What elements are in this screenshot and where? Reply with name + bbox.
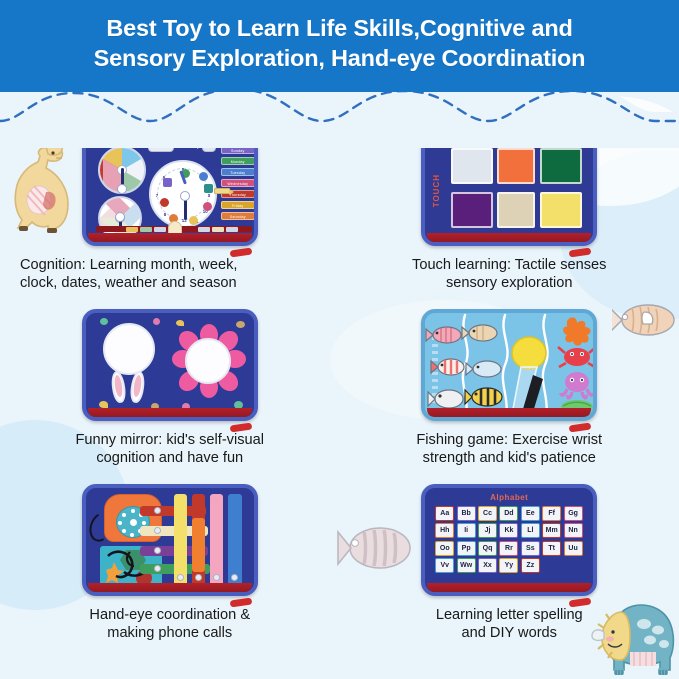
letter-tile[interactable]: Uu: [564, 541, 583, 556]
clock-shape-pink: [203, 202, 212, 211]
fish-white: [428, 390, 463, 408]
fish-pink: [426, 327, 461, 343]
board-touch-body: TOUCH: [421, 134, 597, 246]
caption-line-1: Touch learning: Tactile senses: [356, 256, 664, 274]
header-banner: Best Toy to Learn Life Skills,Cognitive …: [0, 0, 679, 92]
page-title-line2: Sensory Exploration, Hand-eye Coordinati…: [12, 43, 667, 73]
alphabet-tile-row: Vv Ww Xx Yy Zz: [435, 558, 591, 573]
deco-moon-2: [99, 401, 108, 408]
strap-grommet[interactable]: [154, 565, 161, 572]
feature-card-cognition[interactable]: 9 12 7 3 1 10 8 5 11 2: [0, 128, 340, 303]
letter-tile[interactable]: Ll: [521, 523, 540, 538]
caption-line-1: Hand-eye coordination &: [16, 606, 324, 624]
strap-grommet[interactable]: [177, 574, 184, 581]
page-title-line1: Best Toy to Learn Life Skills,Cognitive …: [12, 13, 667, 43]
letter-tile[interactable]: Rr: [499, 541, 518, 556]
letter-tile[interactable]: Kk: [499, 523, 518, 538]
month-button[interactable]: [140, 227, 152, 232]
coral-orange: [563, 317, 590, 345]
letter-tile[interactable]: Vv: [435, 558, 454, 573]
caption-line-2: strength and kid's patience: [356, 449, 664, 467]
caption-line-1: Cognition: Learning month, week,: [20, 256, 340, 274]
strap-grommet[interactable]: [154, 507, 161, 514]
letter-tile[interactable]: Bb: [457, 506, 476, 521]
feature-card-fishing[interactable]: Fishing game: Exercise wrist strength an…: [340, 303, 679, 478]
weekday-item-5[interactable]: Friday: [221, 201, 255, 209]
letter-tile[interactable]: Oo: [435, 541, 454, 556]
clock-shape-star: [199, 172, 208, 181]
board-cognition-body: 9 12 7 3 1 10 8 5 11 2: [82, 134, 258, 246]
clock-number: 8: [164, 212, 166, 217]
board-base-edge: [427, 408, 591, 419]
clock-number: 3: [208, 193, 210, 198]
letter-tile[interactable]: Cc: [478, 506, 497, 521]
touch-side-label: TOUCH: [432, 174, 441, 207]
letter-tile[interactable]: Xx: [478, 558, 497, 573]
octopus-purple: [561, 372, 593, 398]
caption-line-1: Learning letter spelling: [356, 606, 664, 624]
feature-card-touch[interactable]: TOUCH Touch learning: Tactile: [340, 128, 679, 303]
weekday-item-2[interactable]: Tuesday: [221, 168, 255, 176]
letter-tile[interactable]: Yy: [499, 558, 518, 573]
flower-mirror-glass[interactable]: [185, 338, 231, 384]
phone-dial-hole[interactable]: [130, 533, 134, 537]
letter-tile[interactable]: Hh: [435, 523, 454, 538]
month-button[interactable]: [126, 227, 138, 232]
letter-tile[interactable]: Dd: [499, 506, 518, 521]
letter-tile[interactable]: Ss: [521, 541, 540, 556]
strap-vertical-orange[interactable]: [192, 518, 205, 572]
feature-card-alphabet[interactable]: Alphabet Aa Bb Cc Dd Ee Ff Gg: [340, 478, 679, 653]
letter-tile[interactable]: Gg: [564, 506, 583, 521]
clock-shape-purple: [163, 178, 172, 187]
strap-grommet[interactable]: [213, 574, 220, 581]
letter-tile[interactable]: Ff: [542, 506, 561, 521]
promo-page: Best Toy to Learn Life Skills,Cognitive …: [0, 0, 679, 679]
board-base-edge: [88, 408, 252, 419]
weekday-item-1[interactable]: Monday: [221, 157, 255, 165]
board-base-edge: [88, 233, 252, 244]
strap-grommet[interactable]: [231, 574, 238, 581]
letter-tile[interactable]: Tt: [542, 541, 561, 556]
clock-face[interactable]: 9 12 7 3 1 10 8 5 11 2: [149, 160, 217, 228]
swatch-bubble-white[interactable]: [451, 148, 493, 184]
letter-tile[interactable]: Ee: [521, 506, 540, 521]
letter-tile[interactable]: Jj: [478, 523, 497, 538]
month-button[interactable]: [226, 227, 238, 232]
caption-alphabet: Learning letter spelling and DIY words: [340, 606, 679, 642]
feature-row-3: Hand-eye coordination & making phone cal…: [0, 478, 679, 653]
phone-dial-hole[interactable]: [142, 521, 146, 525]
month-button[interactable]: [212, 227, 224, 232]
strap-grommet[interactable]: [195, 574, 202, 581]
caption-mirror: Funny mirror: kid's self-visual cognitio…: [0, 431, 340, 467]
letter-tile[interactable]: Ww: [457, 558, 476, 573]
board-base-edge: [427, 233, 591, 244]
letter-tile[interactable]: Zz: [521, 558, 540, 573]
strap-grommet[interactable]: [154, 547, 161, 554]
feature-grid: 9 12 7 3 1 10 8 5 11 2: [0, 128, 679, 653]
fish-tan: [462, 325, 497, 341]
month-button[interactable]: [154, 227, 166, 232]
pencil-marker-side[interactable]: [214, 188, 230, 194]
caption-fishing: Fishing game: Exercise wrist strength an…: [340, 431, 679, 467]
caption-cognition: Cognition: Learning month, week, clock, …: [0, 256, 340, 292]
crab-red: [558, 347, 596, 367]
letter-tile[interactable]: Qq: [478, 541, 497, 556]
board-cognition[interactable]: 9 12 7 3 1 10 8 5 11 2: [82, 134, 258, 252]
phone-dial-hole[interactable]: [122, 513, 126, 517]
caption-line-2: and DIY words: [356, 624, 664, 642]
board-phone[interactable]: [82, 484, 258, 602]
alphabet-tile-row: Aa Bb Cc Dd Ee Ff Gg: [435, 506, 591, 521]
board-alphabet[interactable]: Alphabet Aa Bb Cc Dd Ee Ff Gg: [421, 484, 597, 602]
swatch-yellow-soft[interactable]: [540, 192, 582, 228]
alphabet-tile-row: Oo Pp Qq Rr Ss Tt Uu: [435, 541, 591, 556]
clock-number: 7: [156, 193, 158, 198]
clock-shape-red: [160, 198, 169, 207]
phone-dial-hole[interactable]: [118, 521, 122, 525]
deco-gem-green: [100, 318, 108, 325]
caption-line-1: Funny mirror: kid's self-visual: [16, 431, 324, 449]
feature-row-1: 9 12 7 3 1 10 8 5 11 2: [0, 128, 679, 303]
swatch-purple-beads[interactable]: [451, 192, 493, 228]
page-title: Best Toy to Learn Life Skills,Cognitive …: [0, 0, 679, 73]
caption-touch: Touch learning: Tactile senses sensory e…: [340, 256, 679, 292]
deco-flower-small: [153, 318, 160, 325]
letter-tile[interactable]: Mm: [542, 523, 561, 538]
flower-mirror[interactable]: [174, 327, 242, 395]
board-phone-body: [82, 484, 258, 596]
alphabet-tile-row: Hh Ii Jj Kk Ll Mm Nn: [435, 523, 591, 538]
board-fishing[interactable]: [421, 309, 597, 427]
swatch-orange-smooth[interactable]: [497, 148, 535, 184]
letter-tile[interactable]: Aa: [435, 506, 454, 521]
strap-grommet[interactable]: [154, 527, 161, 534]
fish-bee-yellow: [465, 388, 502, 406]
swatch-beige-sand[interactable]: [497, 192, 535, 228]
feature-row-2: Funny mirror: kid's self-visual cognitio…: [0, 303, 679, 478]
letter-tile[interactable]: Ii: [457, 523, 476, 538]
weather-dial-knob[interactable]: [117, 184, 127, 194]
board-alphabet-body: Alphabet Aa Bb Cc Dd Ee Ff Gg: [421, 484, 597, 596]
board-mirror-body: [82, 309, 258, 421]
season-dial-knob[interactable]: [115, 212, 125, 222]
caption-line-2: cognition and have fun: [16, 449, 324, 467]
board-base-edge: [88, 583, 252, 594]
feature-card-mirror[interactable]: Funny mirror: kid's self-visual cognitio…: [0, 303, 340, 478]
alphabet-tile-grid[interactable]: Aa Bb Cc Dd Ee Ff Gg Hh: [435, 506, 591, 576]
phone-dial-hole[interactable]: [131, 509, 135, 513]
deco-gem-right: [236, 321, 245, 328]
weekday-item-6[interactable]: Saturday: [221, 212, 255, 220]
caption-line-2: making phone calls: [16, 624, 324, 642]
clock-shape-yellow: [189, 216, 198, 225]
month-button[interactable]: [198, 227, 210, 232]
board-base-edge: [427, 583, 591, 594]
caption-line-2: sensory exploration: [356, 274, 664, 292]
caption-line-2: clock, dates, weather and season: [20, 274, 340, 292]
caption-line-1: Fishing game: Exercise wrist: [356, 431, 664, 449]
board-touch[interactable]: TOUCH: [421, 134, 597, 252]
phone-dial-hole[interactable]: [122, 529, 126, 533]
letter-tile[interactable]: Pp: [457, 541, 476, 556]
weekday-item-3[interactable]: Wednesday: [221, 179, 255, 187]
clock-shape-teal: [204, 184, 213, 193]
letter-tile[interactable]: Nn: [564, 523, 583, 538]
caption-phone: Hand-eye coordination & making phone cal…: [0, 606, 340, 642]
board-mirror[interactable]: [82, 309, 258, 427]
fish-clear: [466, 361, 501, 377]
feature-card-phone[interactable]: Hand-eye coordination & making phone cal…: [0, 478, 340, 653]
deco-moon: [176, 320, 184, 326]
clock-center-knob[interactable]: [180, 191, 190, 201]
alphabet-title: Alphabet: [425, 493, 593, 502]
bunny-mirror[interactable]: [103, 323, 155, 375]
board-fishing-body: [421, 309, 597, 421]
swatch-dark-green[interactable]: [540, 148, 582, 184]
